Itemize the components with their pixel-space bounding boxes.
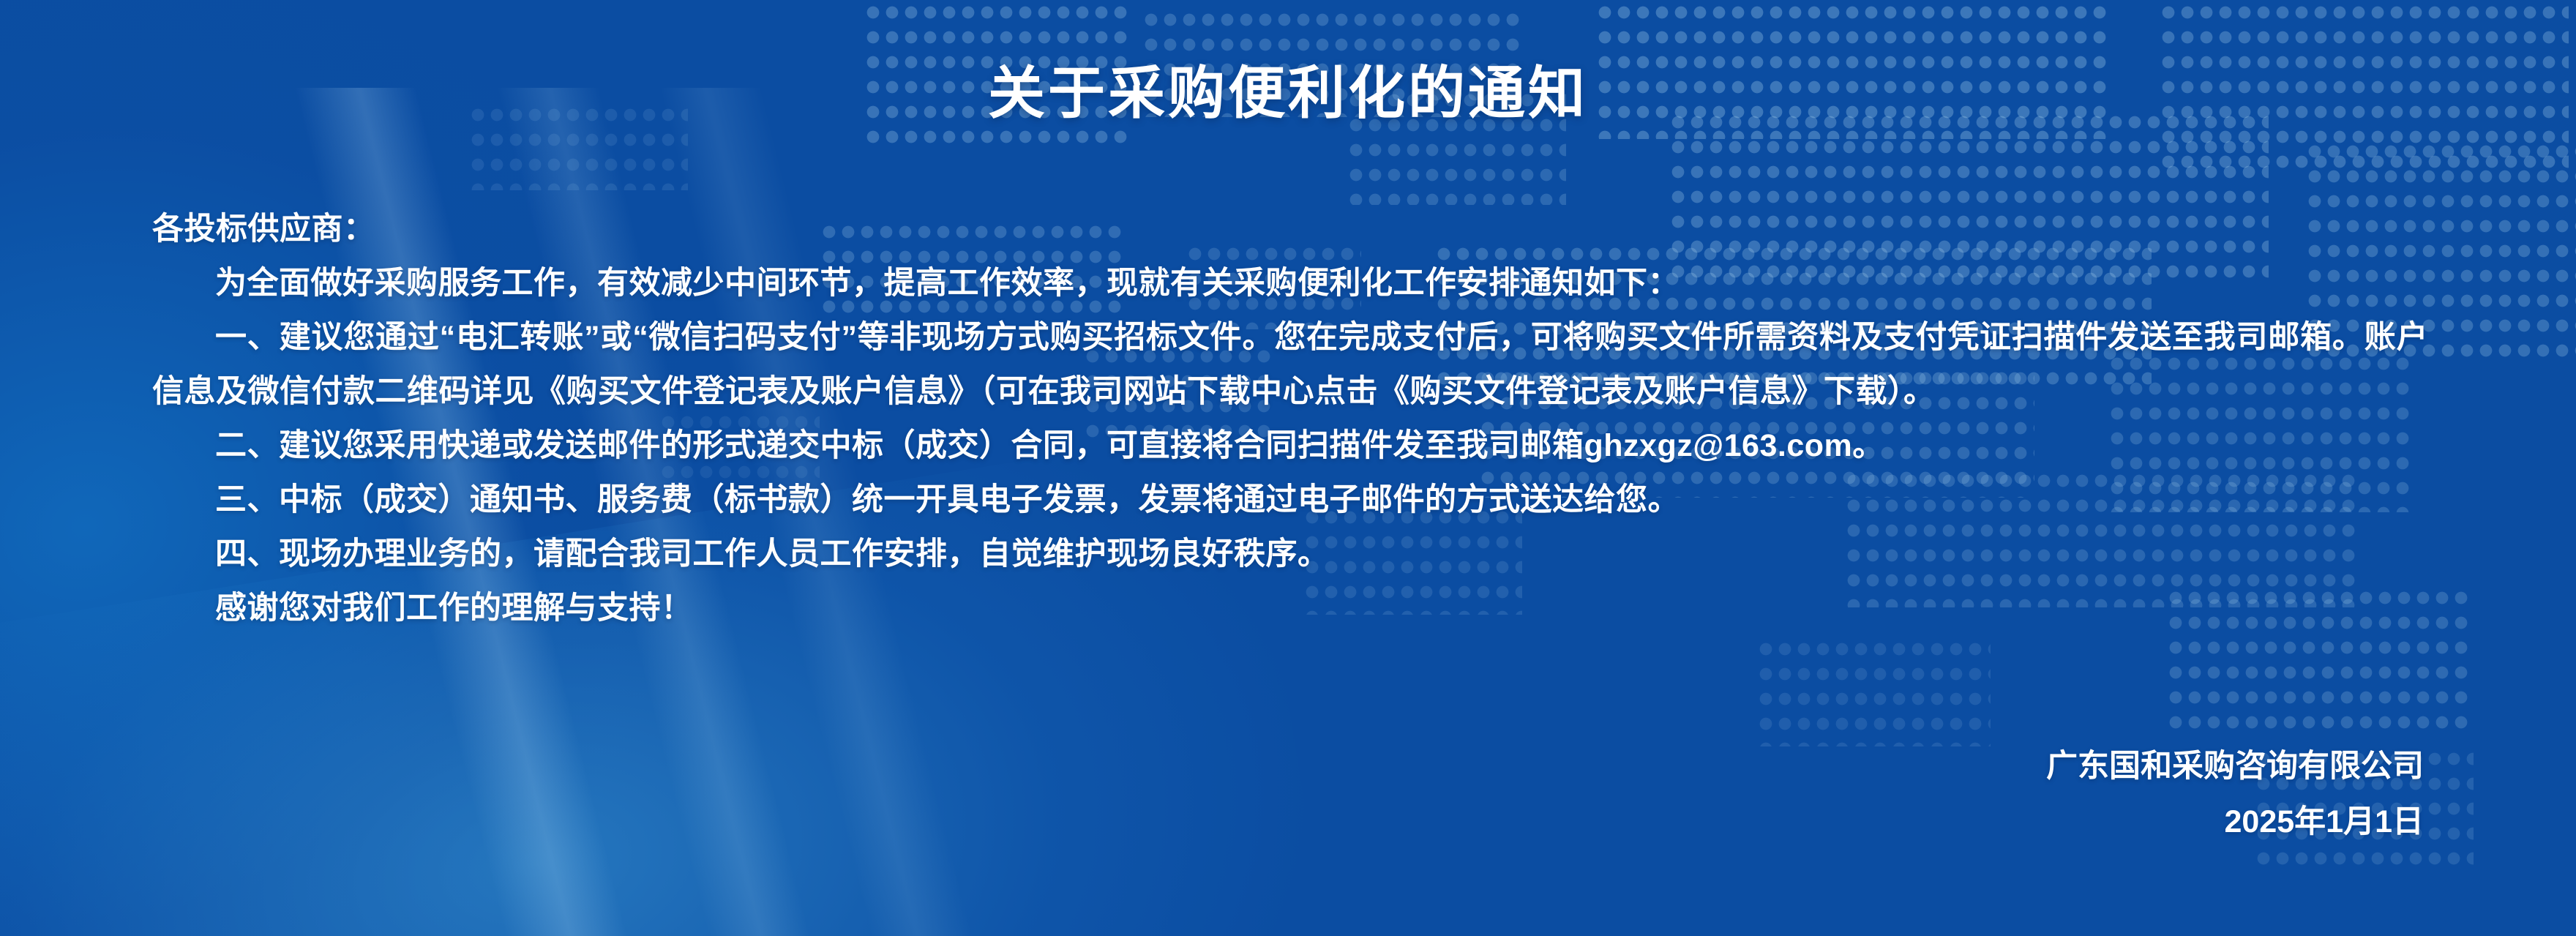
closing-line: 感谢您对我们工作的理解与支持！ — [152, 581, 2428, 635]
signature-date: 2025年1月1日 — [1399, 794, 2424, 850]
notice-banner: 关于采购便利化的通知 各投标供应商： 为全面做好采购服务工作，有效减少中间环节，… — [0, 0, 2576, 936]
notice-item-4: 四、现场办理业务的，请配合我司工作人员工作安排，自觉维护现场良好秩序。 — [152, 527, 2428, 581]
notice-item-2: 二、建议您采用快递或发送邮件的形式递交中标（成交）合同，可直接将合同扫描件发至我… — [152, 419, 2428, 473]
page-title: 关于采购便利化的通知 — [0, 64, 2576, 121]
salutation: 各投标供应商： — [152, 202, 2428, 256]
intro-paragraph: 为全面做好采购服务工作，有效减少中间环节，提高工作效率，现就有关采购便利化工作安… — [152, 256, 2428, 310]
signature-block: 广东国和采购咨询有限公司 2025年1月1日 — [1399, 738, 2424, 850]
notice-item-1: 一、建议您通过“电汇转账”或“微信扫码支付”等非现场方式购买招标文件。您在完成支… — [152, 310, 2428, 419]
notice-body: 各投标供应商： 为全面做好采购服务工作，有效减少中间环节，提高工作效率，现就有关… — [152, 202, 2428, 635]
notice-item-3: 三、中标（成交）通知书、服务费（标书款）统一开具电子发票，发票将通过电子邮件的方… — [152, 473, 2428, 527]
signature-company: 广东国和采购咨询有限公司 — [1399, 738, 2424, 794]
